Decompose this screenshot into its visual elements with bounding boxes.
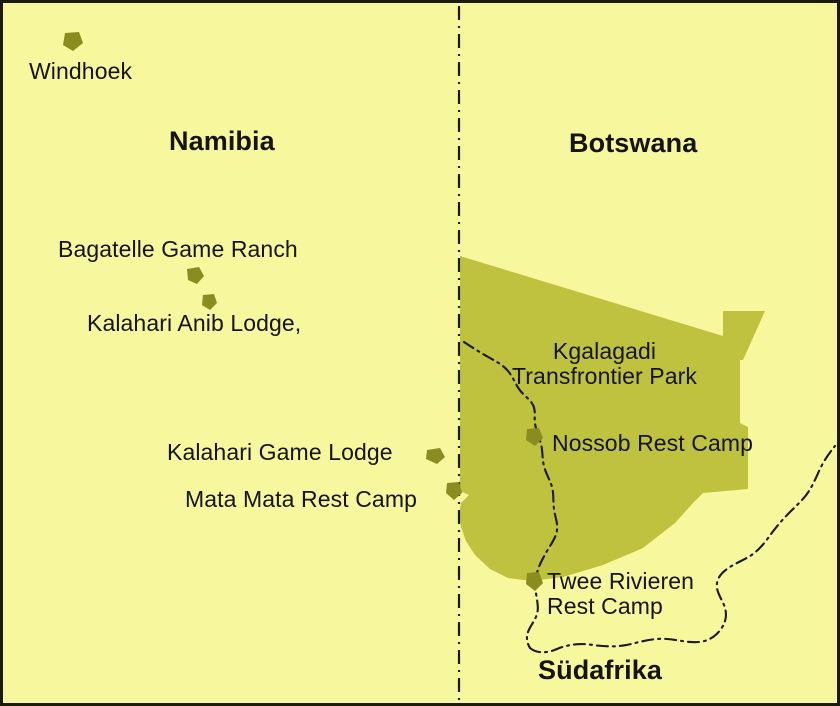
twee-rivieren-label-line1: Twee Rivieren xyxy=(547,569,694,594)
place-label-twee-rivieren-rest-camp: Twee Rivieren Rest Camp xyxy=(547,569,694,619)
place-label-bagatelle-game-ranch: Bagatelle Game Ranch xyxy=(58,237,298,262)
country-label-sudafrika: Südafrika xyxy=(538,656,662,685)
map-canvas: Namibia Botswana Südafrika Kgalagadi Tra… xyxy=(0,0,840,706)
park-label-line1: Kgalagadi xyxy=(512,339,697,364)
marker-windhoek xyxy=(63,32,83,51)
park-polygon-kgalagadi xyxy=(459,256,765,581)
map-vector-layer xyxy=(3,3,840,706)
place-label-kalahari-anib-lodge: Kalahari Anib Lodge, xyxy=(87,311,301,336)
marker-kalahari-game-lodge xyxy=(426,448,445,464)
country-label-namibia: Namibia xyxy=(169,127,275,156)
marker-kalahari-anib-lodge xyxy=(202,294,217,310)
marker-bagatelle-game-ranch xyxy=(187,267,204,284)
park-label-kgalagadi-transfrontier-park: Kgalagadi Transfrontier Park xyxy=(512,339,697,389)
place-label-windhoek: Windhoek xyxy=(29,59,132,84)
park-label-line2: Transfrontier Park xyxy=(512,364,697,389)
place-label-nossob-rest-camp: Nossob Rest Camp xyxy=(552,431,753,456)
twee-rivieren-label-line2: Rest Camp xyxy=(547,594,694,619)
place-label-kalahari-game-lodge: Kalahari Game Lodge xyxy=(167,440,393,465)
country-label-botswana: Botswana xyxy=(569,129,697,158)
place-label-mata-mata-rest-camp: Mata Mata Rest Camp xyxy=(185,487,417,512)
marker-mata-mata-rest-camp xyxy=(446,482,462,500)
